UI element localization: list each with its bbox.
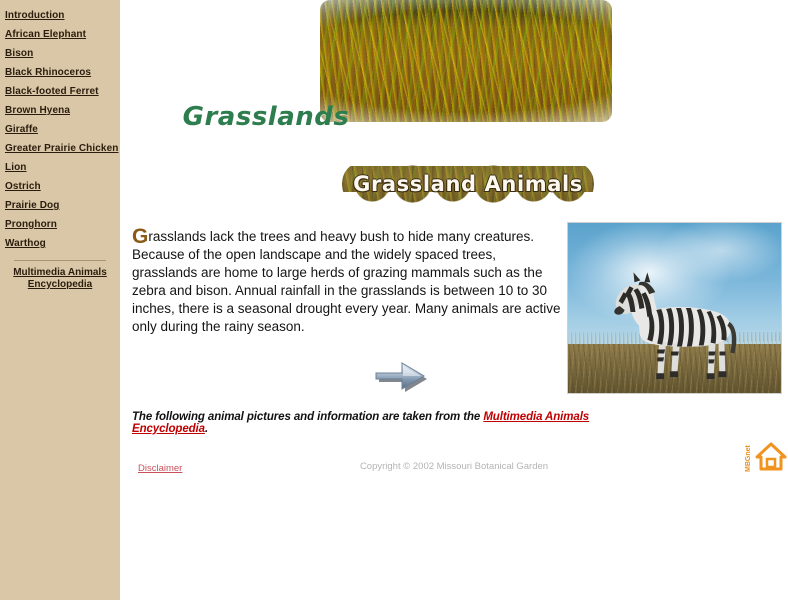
mbgnet-label: MBGnet [745, 440, 752, 472]
credit-prefix: The following animal pictures and inform… [132, 411, 483, 423]
grassland-animals-banner-label: Grassland Animals [342, 172, 594, 196]
sidebar-item-pronghorn[interactable]: Pronghorn [0, 215, 120, 234]
sidebar-item-prairie-dog[interactable]: Prairie Dog [0, 196, 120, 215]
credit-suffix: . [205, 423, 208, 435]
sidebar-item-ostrich[interactable]: Ostrich [0, 177, 120, 196]
sidebar-divider [14, 260, 106, 261]
page-title: Grasslands [120, 102, 412, 132]
drop-cap-letter: G [132, 228, 148, 245]
sidebar-item-african-elephant[interactable]: African Elephant [0, 25, 120, 44]
zebra-figure-icon [568, 223, 781, 393]
sidebar-item-giraffe[interactable]: Giraffe [0, 120, 120, 139]
sidebar-item-black-footed-ferret[interactable]: Black-footed Ferret [0, 82, 120, 101]
sidebar-item-greater-prairie-chicken[interactable]: Greater Prairie Chicken [0, 139, 120, 158]
home-icon [755, 440, 787, 472]
credit-line: The following animal pictures and inform… [132, 411, 642, 435]
main-content: Grasslands Grassland Animals Grasslands … [120, 0, 788, 600]
sidebar-item-multimedia-animals-encyclopedia[interactable]: Multimedia Animals Encyclopedia [0, 267, 120, 291]
sidebar-item-warthog[interactable]: Warthog [0, 234, 120, 253]
mbgnet-home-button[interactable]: MBGnet [745, 438, 788, 476]
next-arrow-button[interactable] [370, 356, 432, 396]
arrow-right-icon [370, 356, 432, 396]
intro-paragraph: Grasslands lack the trees and heavy bush… [132, 228, 564, 336]
sidebar-item-black-rhinoceros[interactable]: Black Rhinoceros [0, 63, 120, 82]
sidebar-item-bison[interactable]: Bison [0, 44, 120, 63]
sidebar-item-introduction[interactable]: Introduction [0, 6, 120, 25]
sidebar-navigation: Introduction African Elephant Bison Blac… [0, 0, 120, 600]
intro-paragraph-text: rasslands lack the trees and heavy bush … [132, 229, 560, 334]
zebra-photo [567, 222, 782, 394]
sidebar-item-lion[interactable]: Lion [0, 158, 120, 177]
copyright-text: Copyright © 2002 Missouri Botanical Gard… [120, 461, 788, 472]
sidebar-item-brown-hyena[interactable]: Brown Hyena [0, 101, 120, 120]
